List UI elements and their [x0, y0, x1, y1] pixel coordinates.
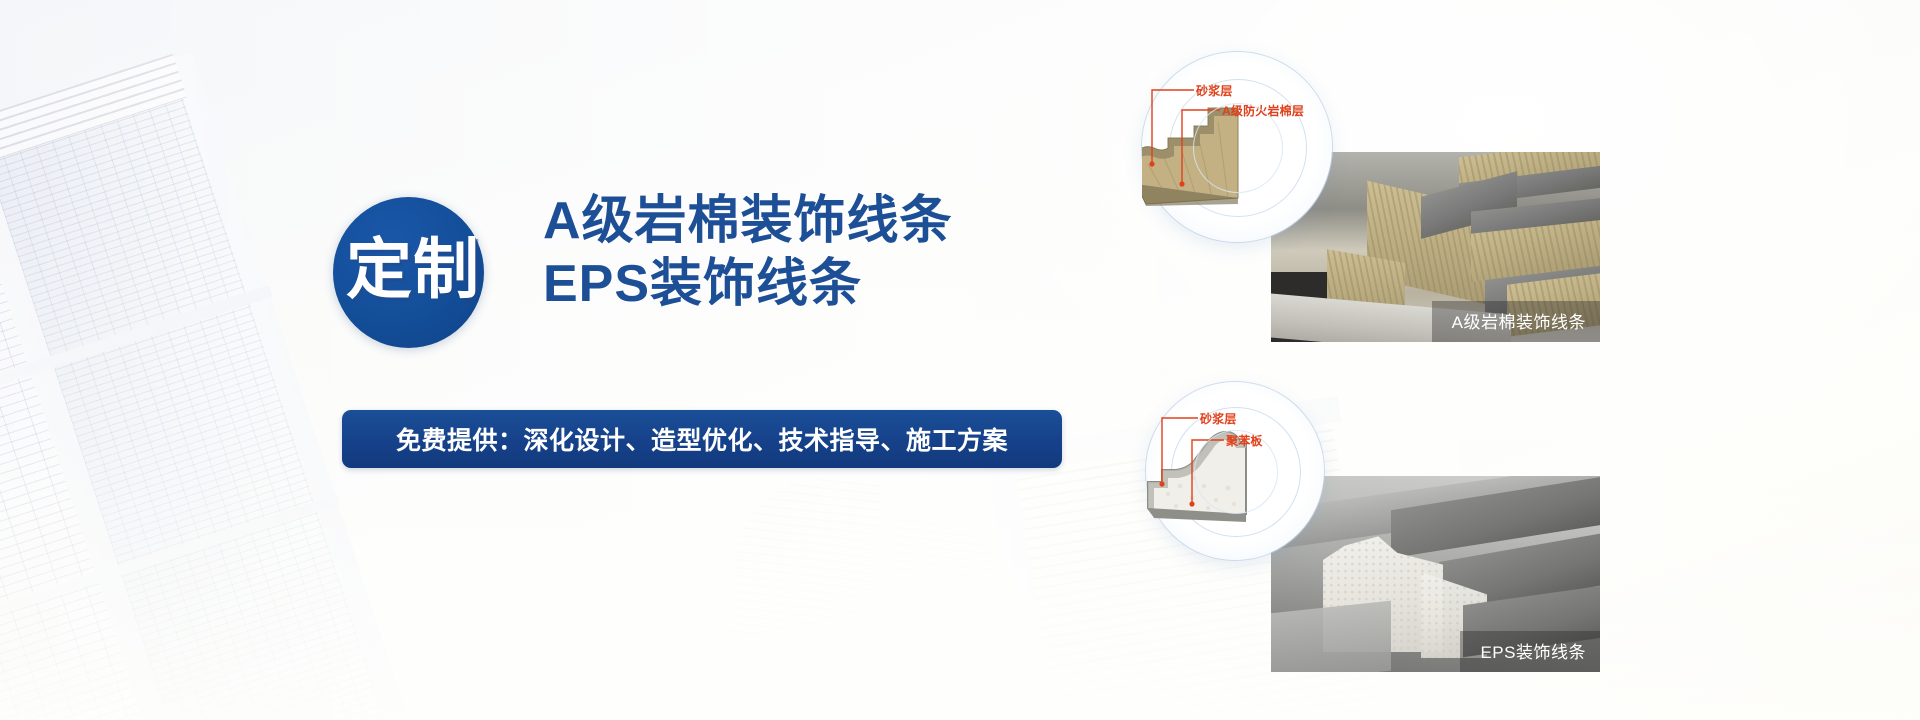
product-caption-rock-wool: A级岩棉装饰线条 [1432, 301, 1600, 342]
headline: A级岩棉装饰线条 EPS装饰线条 [543, 190, 953, 316]
promo-bar-text: 免费提供：深化设计、造型优化、技术指导、施工方案 [396, 421, 1008, 457]
promo-banner: 定制 A级岩棉装饰线条 EPS装饰线条 免费提供：深化设计、造型优化、技术指导、… [0, 0, 1920, 720]
background-fade-mask [0, 0, 1920, 720]
headline-line-2: EPS装饰线条 [543, 253, 953, 316]
callout-label-mortar-layer-top: 砂浆层 [1196, 82, 1233, 99]
eps-callout-leaders [1146, 382, 1324, 560]
diagram-inset-rock-wool: 砂浆层 A级防火岩棉层 [1142, 52, 1332, 242]
rock-wool-callout-leaders [1142, 52, 1332, 242]
promo-bar: 免费提供：深化设计、造型优化、技术指导、施工方案 [342, 410, 1062, 468]
callout-label-rock-wool-layer: A级防火岩棉层 [1222, 102, 1304, 119]
custom-badge-label: 定制 [329, 236, 497, 302]
callout-label-eps-board: 聚苯板 [1226, 432, 1263, 449]
callout-label-mortar-layer-bottom: 砂浆层 [1200, 410, 1237, 427]
headline-line-1: A级岩棉装饰线条 [543, 190, 953, 253]
product-caption-eps: EPS装饰线条 [1460, 631, 1600, 672]
diagram-inset-eps: 砂浆层 聚苯板 [1146, 382, 1324, 560]
